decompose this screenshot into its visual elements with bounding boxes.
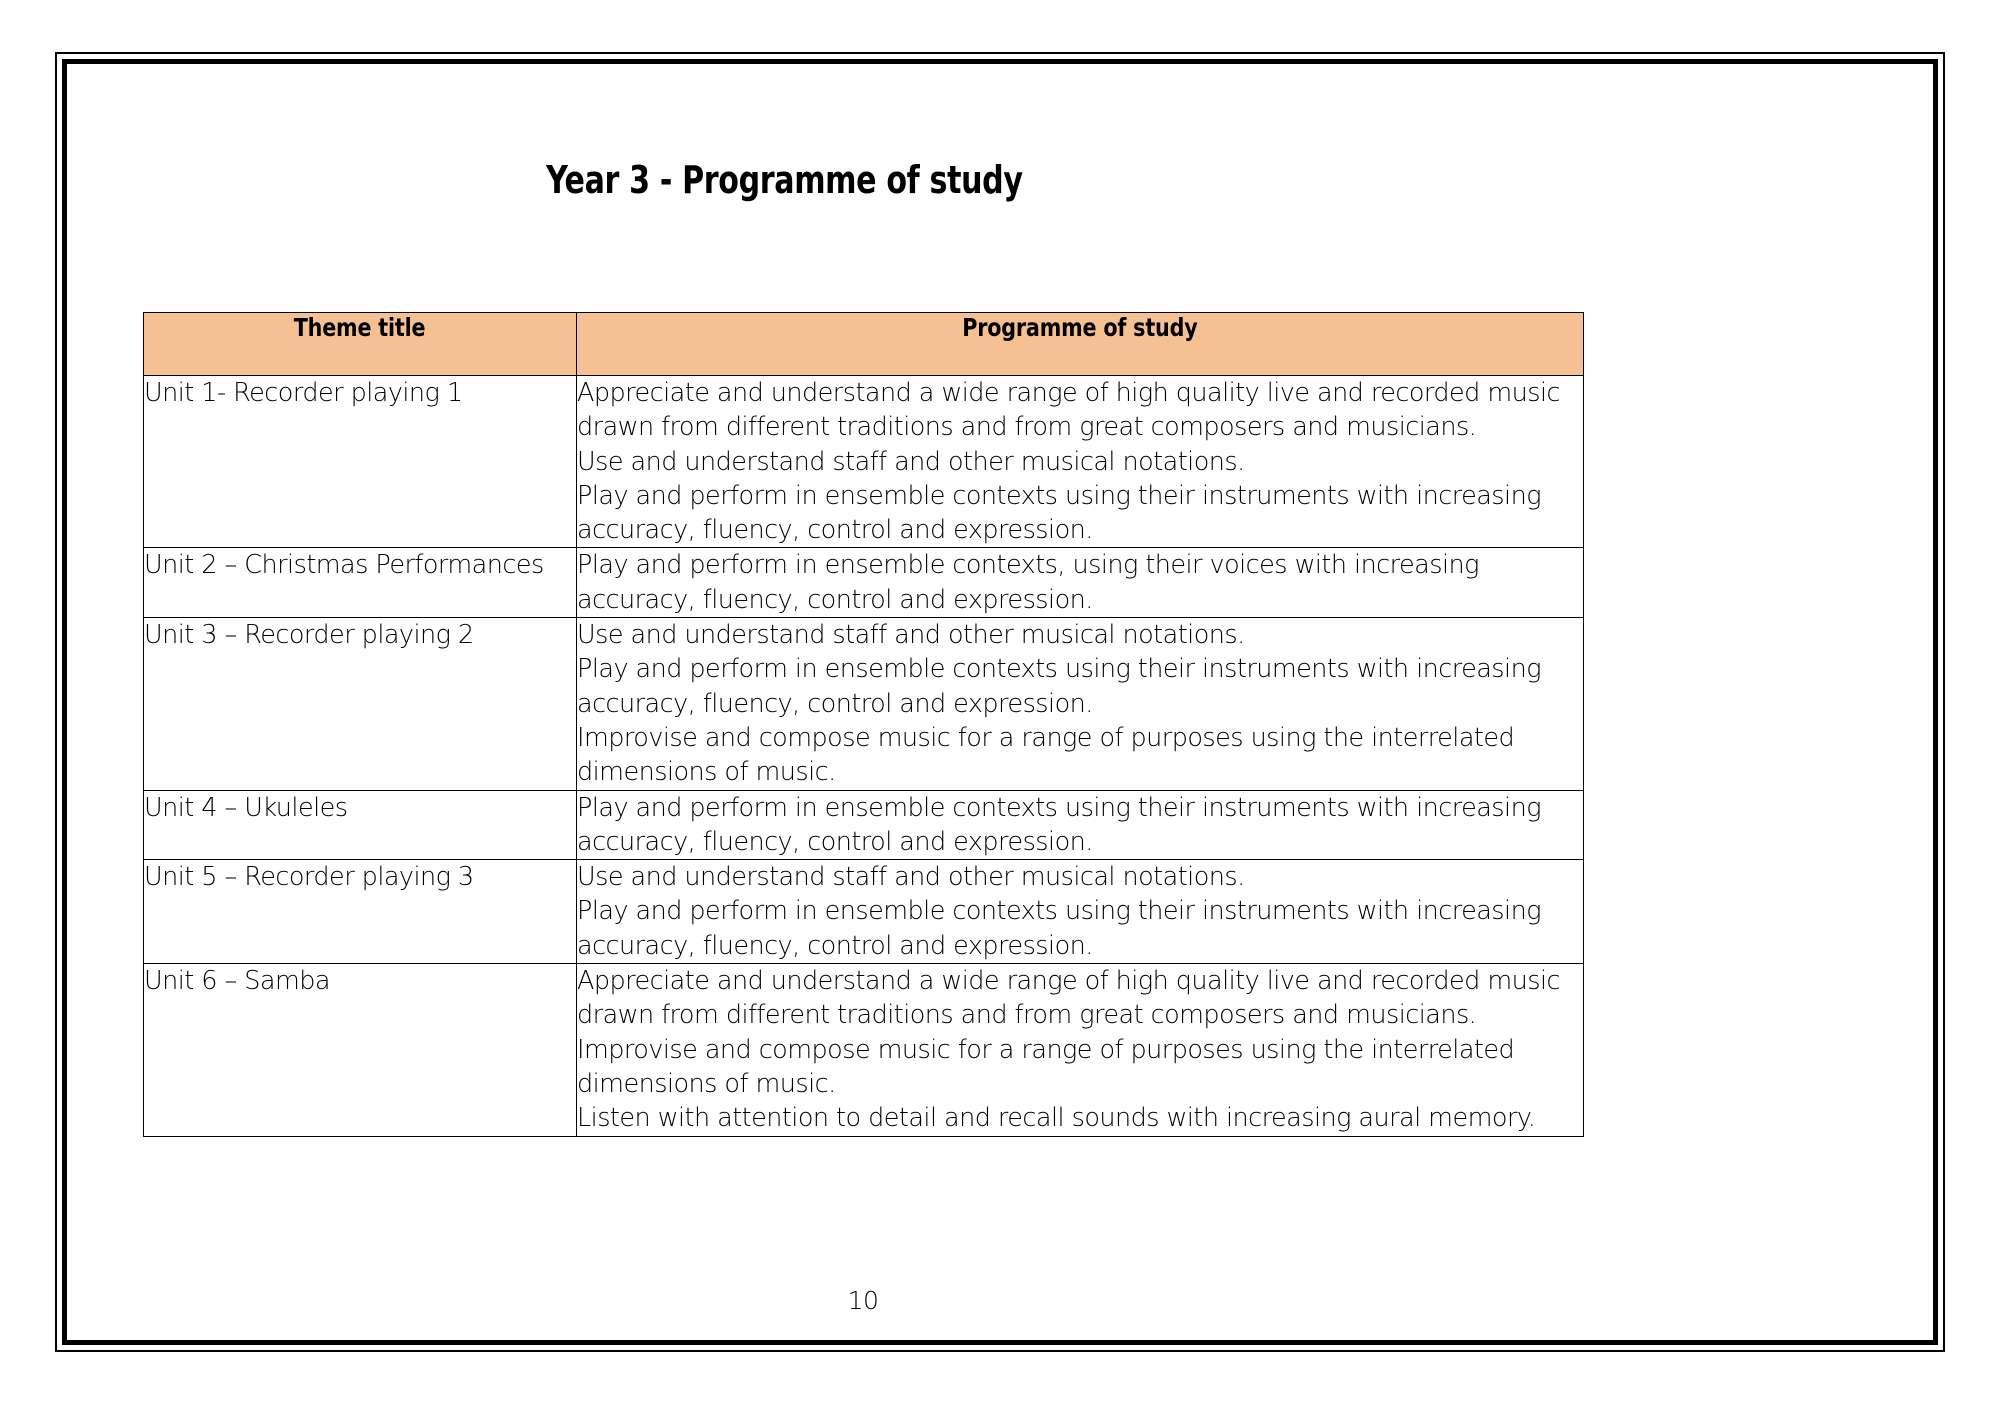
programme-statement: Play and perform in ensemble contexts us… xyxy=(577,479,1583,548)
theme-title-cell: Unit 1- Recorder playing 1 xyxy=(144,376,577,548)
table-row: Unit 3 – Recorder playing 2Use and under… xyxy=(144,618,1584,790)
table-header: Theme title Programme of study xyxy=(144,313,1584,376)
programme-statement: Improvise and compose music for a range … xyxy=(577,1033,1583,1102)
table-row: Unit 6 – SambaAppreciate and understand … xyxy=(144,964,1584,1136)
page-content: Year 3 - Programme of study Theme title … xyxy=(75,70,1925,202)
page-title: Year 3 - Programme of study xyxy=(186,70,1814,202)
programme-statement: Appreciate and understand a wide range o… xyxy=(577,964,1583,1033)
programme-statement: Listen with attention to detail and reca… xyxy=(577,1101,1583,1135)
programme-of-study-cell: Appreciate and understand a wide range o… xyxy=(577,964,1584,1136)
programme-of-study-cell: Appreciate and understand a wide range o… xyxy=(577,376,1584,548)
theme-title-cell: Unit 2 – Christmas Performances xyxy=(144,548,577,618)
column-header-programme-of-study-label: Programme of study xyxy=(962,313,1197,342)
programme-statement: Improvise and compose music for a range … xyxy=(577,721,1583,790)
programme-of-study-cell: Play and perform in ensemble contexts us… xyxy=(577,790,1584,860)
programme-statement: Play and perform in ensemble contexts us… xyxy=(577,894,1583,963)
programme-statement: Play and perform in ensemble contexts, u… xyxy=(577,548,1583,617)
column-header-theme-title-label: Theme title xyxy=(294,313,426,342)
programme-of-study-cell: Use and understand staff and other music… xyxy=(577,860,1584,964)
table-header-row: Theme title Programme of study xyxy=(144,313,1584,376)
table-row: Unit 5 – Recorder playing 3Use and under… xyxy=(144,860,1584,964)
column-header-programme-of-study: Programme of study xyxy=(577,313,1584,376)
table-row: Unit 4 – UkulelesPlay and perform in ens… xyxy=(144,790,1584,860)
theme-title-cell: Unit 3 – Recorder playing 2 xyxy=(144,618,577,790)
programme-statement: Play and perform in ensemble contexts us… xyxy=(577,791,1583,860)
theme-title-cell: Unit 4 – Ukuleles xyxy=(144,790,577,860)
programme-statement: Use and understand staff and other music… xyxy=(577,860,1583,894)
table-row: Unit 1- Recorder playing 1Appreciate and… xyxy=(144,376,1584,548)
table-body: Unit 1- Recorder playing 1Appreciate and… xyxy=(144,376,1584,1137)
programme-of-study-cell: Use and understand staff and other music… xyxy=(577,618,1584,790)
programme-statement: Appreciate and understand a wide range o… xyxy=(577,376,1583,445)
programme-statement: Use and understand staff and other music… xyxy=(577,445,1583,479)
programme-of-study-cell: Play and perform in ensemble contexts, u… xyxy=(577,548,1584,618)
page-number: 10 xyxy=(143,1286,1583,1315)
programme-of-study-table: Theme title Programme of study Unit 1- R… xyxy=(143,312,1584,1137)
column-header-theme-title: Theme title xyxy=(144,313,577,376)
table-row: Unit 2 – Christmas PerformancesPlay and … xyxy=(144,548,1584,618)
programme-statement: Use and understand staff and other music… xyxy=(577,618,1583,652)
theme-title-cell: Unit 5 – Recorder playing 3 xyxy=(144,860,577,964)
programme-statement: Play and perform in ensemble contexts us… xyxy=(577,652,1583,721)
theme-title-cell: Unit 6 – Samba xyxy=(144,964,577,1136)
